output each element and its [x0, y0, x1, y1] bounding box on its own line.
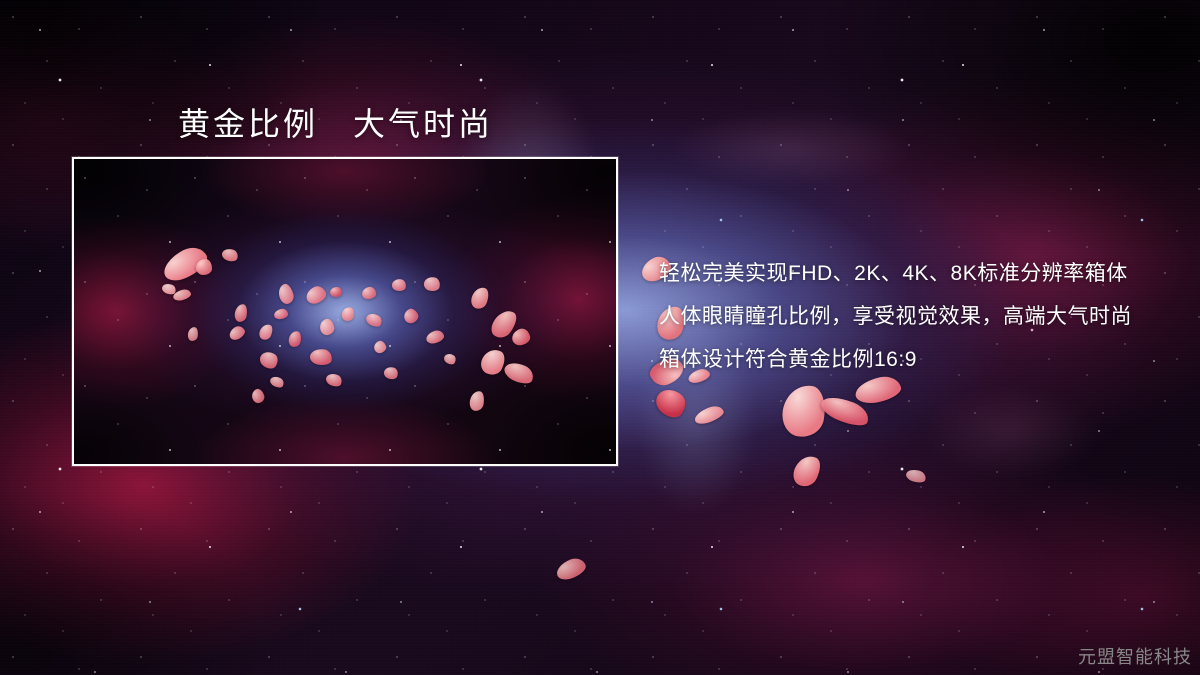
petal	[364, 311, 384, 329]
petal	[196, 259, 212, 275]
petal	[554, 555, 589, 583]
petal	[273, 308, 289, 320]
image-frame-inner	[74, 159, 616, 464]
petal	[469, 285, 492, 311]
petal	[423, 275, 442, 292]
slide-canvas: 黄金比例 大气时尚 轻松完美实现FHD、2K、4K、8K标准分辨率箱体 人体眼睛…	[0, 0, 1200, 675]
petal	[789, 451, 825, 491]
petal	[309, 348, 333, 367]
petal	[402, 307, 421, 326]
petal	[187, 326, 199, 341]
petal	[269, 374, 286, 389]
petal	[651, 383, 691, 422]
petal	[361, 286, 377, 300]
petal	[250, 387, 266, 404]
petal	[257, 348, 281, 371]
petal	[905, 467, 928, 484]
petal	[234, 303, 249, 323]
watermark-label: 元盟智能科技	[1078, 643, 1192, 669]
petal	[382, 365, 399, 381]
image-frame-panel	[72, 157, 618, 466]
petal	[257, 322, 274, 341]
petal	[779, 382, 829, 441]
body-line-2: 人体眼睛瞳孔比例，享受视觉效果，高端大气时尚	[659, 295, 1179, 338]
petal	[221, 247, 240, 263]
petal	[340, 306, 355, 323]
petal	[425, 329, 446, 345]
petal	[502, 359, 537, 388]
petal	[818, 391, 873, 430]
petal	[391, 278, 407, 292]
body-text-block: 轻松完美实现FHD、2K、4K、8K标准分辨率箱体 人体眼睛瞳孔比例，享受视觉效…	[659, 252, 1179, 381]
panel-petals	[74, 159, 616, 464]
petal	[510, 327, 531, 347]
petal	[693, 403, 726, 426]
petal	[277, 282, 296, 305]
petal	[324, 371, 343, 388]
body-line-1: 轻松完美实现FHD、2K、4K、8K标准分辨率箱体	[659, 252, 1179, 295]
petal	[318, 318, 335, 337]
petal	[372, 339, 387, 354]
petal	[442, 352, 457, 367]
body-line-3: 箱体设计符合黄金比例16:9	[659, 338, 1179, 381]
petal	[477, 345, 509, 378]
petal	[330, 287, 342, 297]
petal	[227, 324, 247, 342]
petal	[304, 284, 329, 307]
page-title: 黄金比例 大气时尚	[178, 99, 493, 145]
petal	[468, 390, 485, 412]
petal	[287, 330, 302, 348]
